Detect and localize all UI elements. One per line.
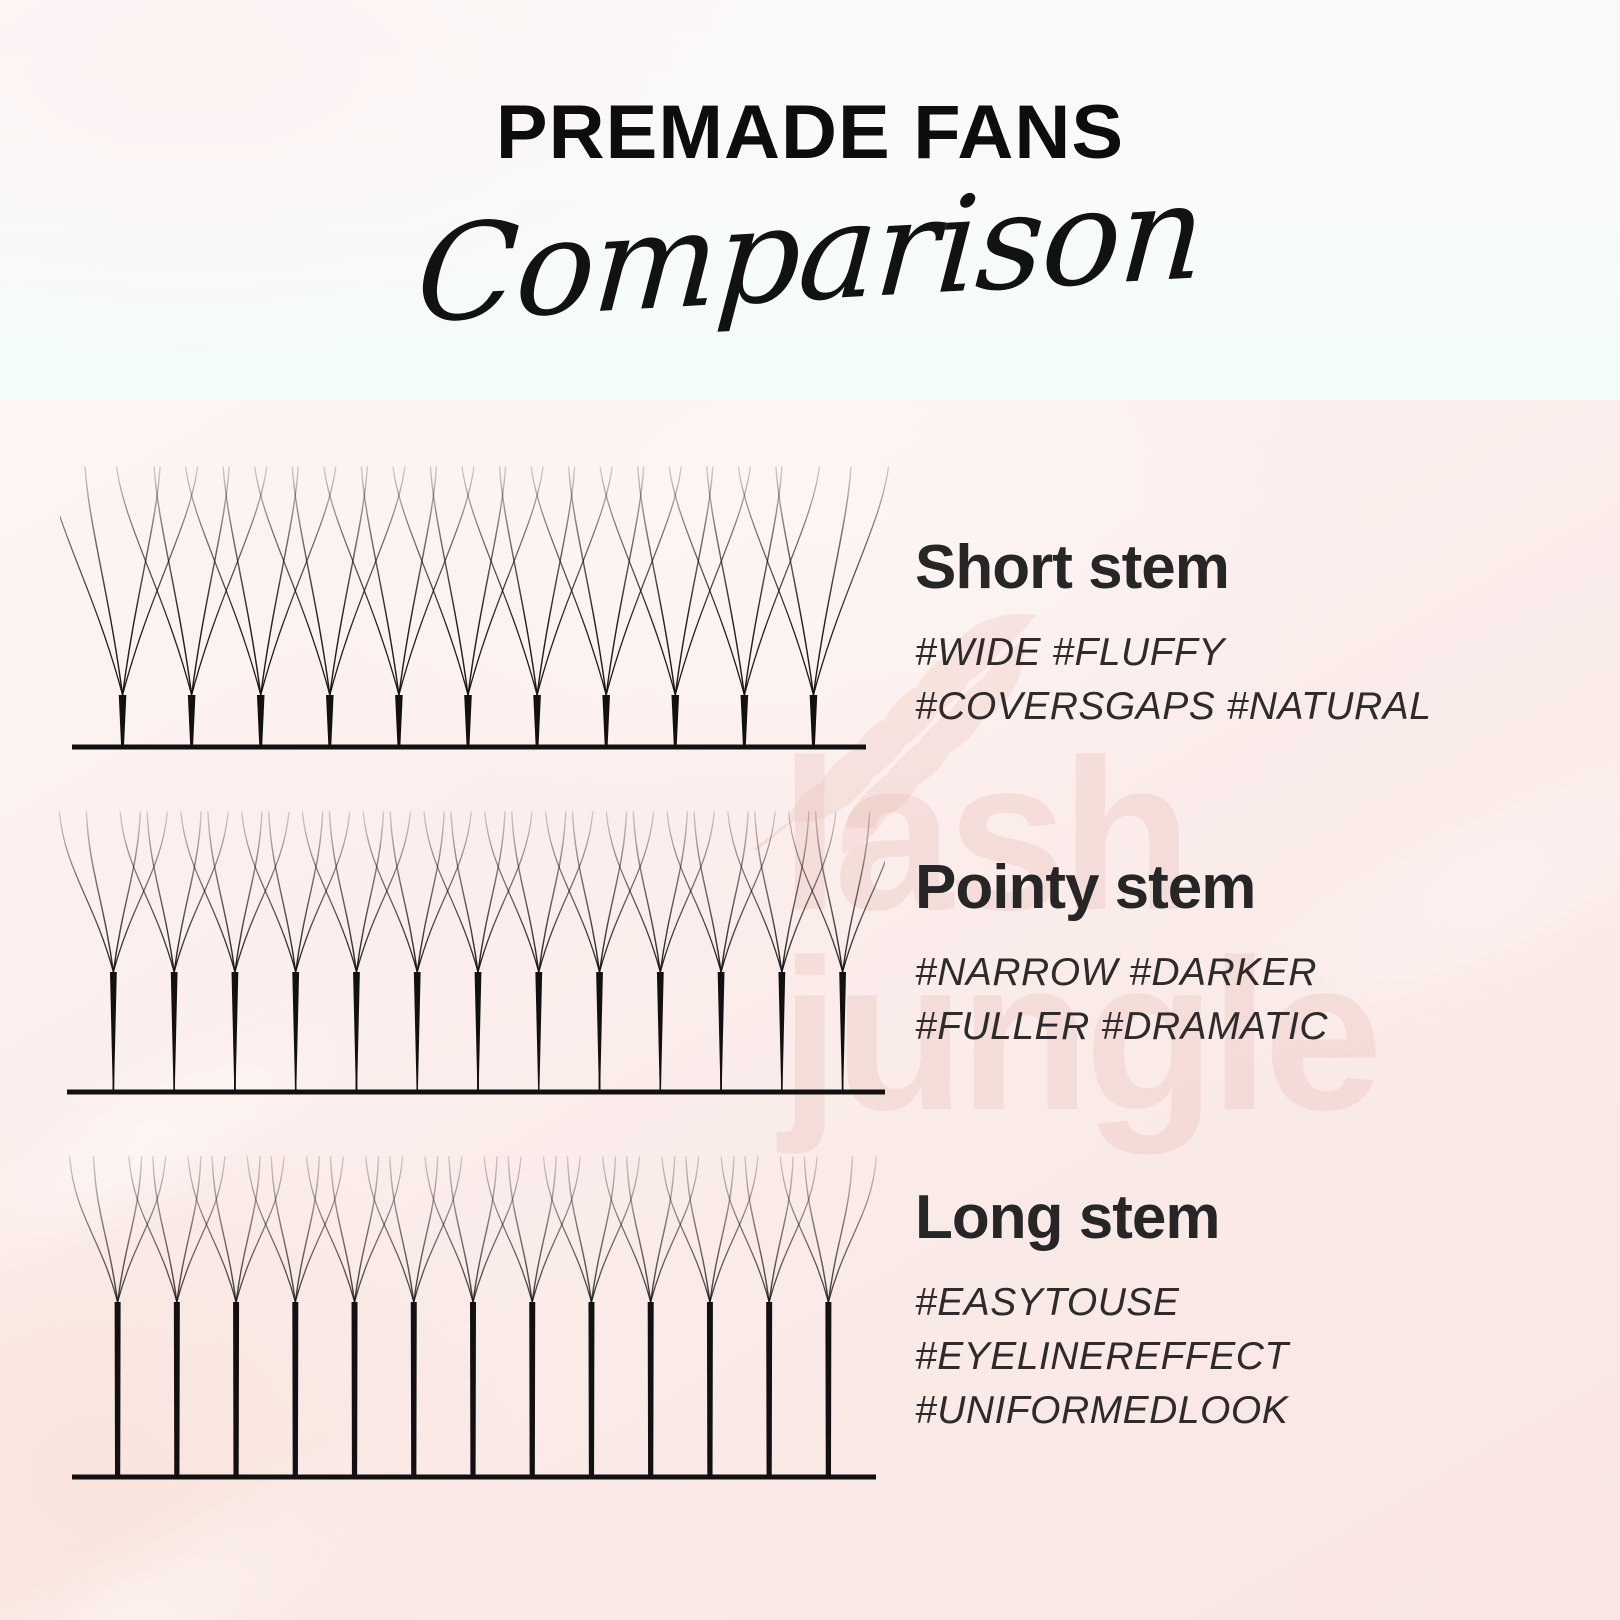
section-tags: #EASYTOUSE #EYELINEREFFECT #UNIFORMEDLOO… [915,1276,1289,1437]
section-tags: #WIDE #FLUFFY #COVERSGAPS #NATURAL [915,626,1431,734]
tag-line: #COVERSGAPS #NATURAL [915,680,1431,734]
long-stem-lash-fans [60,1145,890,1495]
tag-line: #EASYTOUSE [915,1276,1289,1330]
info-block-long-stem: Long stem #EASYTOUSE #EYELINEREFFECT #UN… [915,1185,1289,1438]
tag-line: #FULLER #DRAMATIC [915,1000,1328,1054]
section-title: Pointy stem [915,855,1328,920]
info-block-short-stem: Short stem #WIDE #FLUFFY #COVERSGAPS #NA… [915,535,1431,734]
pointy-stem-lash-fans [55,800,885,1110]
tag-line: #NARROW #DARKER [915,946,1328,1000]
infographic-canvas: PREMADE FANS Comparison lash jungle [0,0,1620,1620]
section-tags: #NARROW #DARKER #FULLER #DRAMATIC [915,946,1328,1054]
section-title: Short stem [915,535,1431,600]
tag-line: #UNIFORMEDLOOK [915,1384,1289,1438]
tag-line: #EYELINEREFFECT [915,1330,1289,1384]
section-title: Long stem [915,1185,1289,1250]
header-band: PREMADE FANS Comparison [0,0,1620,400]
info-block-pointy-stem: Pointy stem #NARROW #DARKER #FULLER #DRA… [915,855,1328,1054]
short-stem-lash-fans [60,455,890,765]
tag-line: #WIDE #FLUFFY [915,626,1431,680]
